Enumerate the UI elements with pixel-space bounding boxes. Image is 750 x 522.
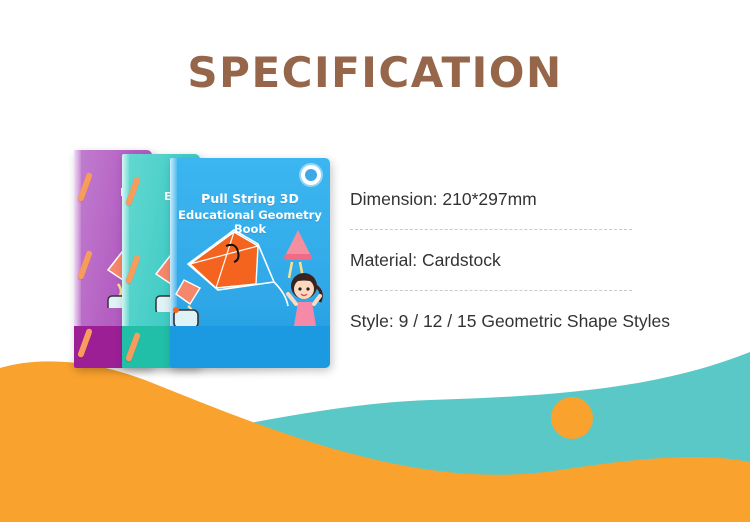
kite-illustration bbox=[170, 224, 330, 330]
specification-banner: SPECIFICATION Ed Ed bbox=[0, 0, 750, 522]
specification-list: Dimension: 210*297mm Material: Cardstock… bbox=[350, 186, 650, 334]
cover-title-line1: Pull String 3D bbox=[170, 191, 330, 206]
book-foot-band bbox=[170, 326, 330, 368]
spec-text-material: Material: Cardstock bbox=[350, 247, 650, 273]
brand-logo-icon bbox=[301, 165, 321, 185]
spec-row-style: Style: 9 / 12 / 15 Geometric Shape Style… bbox=[350, 308, 650, 334]
spec-text-style: Style: 9 / 12 / 15 Geometric Shape Style… bbox=[350, 308, 650, 334]
orange-wave bbox=[0, 361, 750, 522]
page-title: SPECIFICATION bbox=[0, 48, 750, 97]
orange-circle bbox=[551, 397, 593, 439]
spec-row-dimension: Dimension: 210*297mm bbox=[350, 186, 650, 212]
book-variant-blue-front: Pull String 3D Educational Geometry Book bbox=[170, 158, 330, 368]
product-image: Ed Ed bbox=[60, 140, 340, 380]
spec-text-dimension: Dimension: 210*297mm bbox=[350, 186, 650, 212]
girl-character bbox=[274, 273, 321, 326]
spec-divider bbox=[350, 290, 632, 291]
spec-row-material: Material: Cardstock bbox=[350, 247, 650, 273]
spec-divider bbox=[350, 229, 632, 230]
